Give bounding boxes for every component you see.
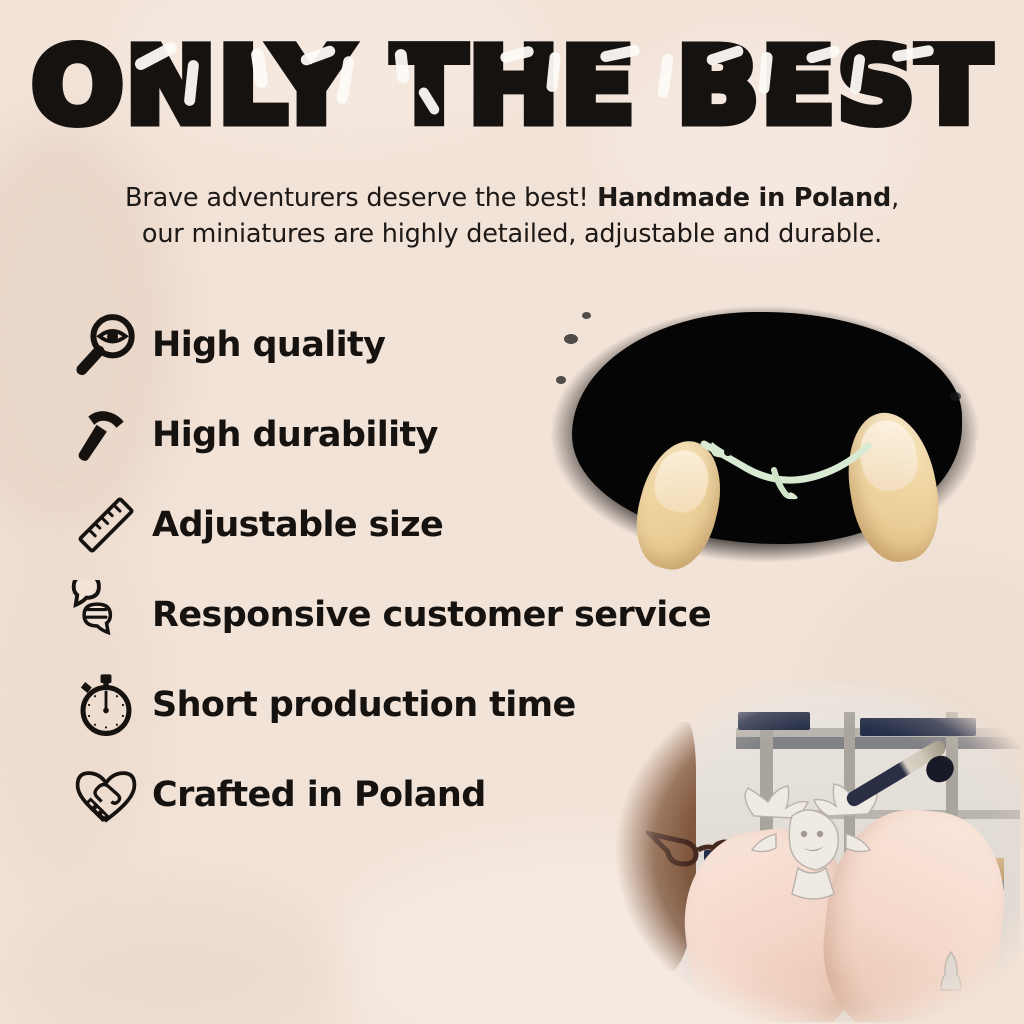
feature-label: Short production time <box>152 685 576 725</box>
subtitle-lead: Brave adventurers deserve the best! <box>125 183 588 213</box>
torn-photo-frame <box>608 682 1020 1022</box>
speech-bubbles-icon <box>64 576 148 654</box>
feature-label: Adjustable size <box>152 505 443 545</box>
heart-handshake-icon <box>64 756 148 834</box>
ruler-icon <box>64 486 148 564</box>
flexible-miniature-photo <box>520 282 1010 602</box>
infographic-page: ONLY THE BEST Brave adventurers deserve … <box>0 0 1024 1024</box>
feature-label: Crafted in Poland <box>152 775 486 815</box>
subtitle-bold: Handmade in Poland <box>588 183 891 213</box>
subtitle: Brave adventurers deserve the best! Hand… <box>60 180 964 252</box>
feature-label: High quality <box>152 325 385 365</box>
page-title: ONLY THE BEST <box>31 34 992 138</box>
subtitle-line2: our miniatures are highly detailed, adju… <box>142 219 882 249</box>
feature-label: High durability <box>152 415 438 455</box>
stopwatch-icon <box>64 666 148 744</box>
workshop-painting-photo <box>600 672 1024 1024</box>
title-block: ONLY THE BEST <box>0 34 1024 138</box>
magnifier-eye-icon <box>64 306 148 384</box>
flexible-miniature-part <box>698 428 874 500</box>
subtitle-tail: , <box>891 183 899 213</box>
hammer-icon <box>64 396 148 474</box>
white-miniature <box>938 950 964 994</box>
